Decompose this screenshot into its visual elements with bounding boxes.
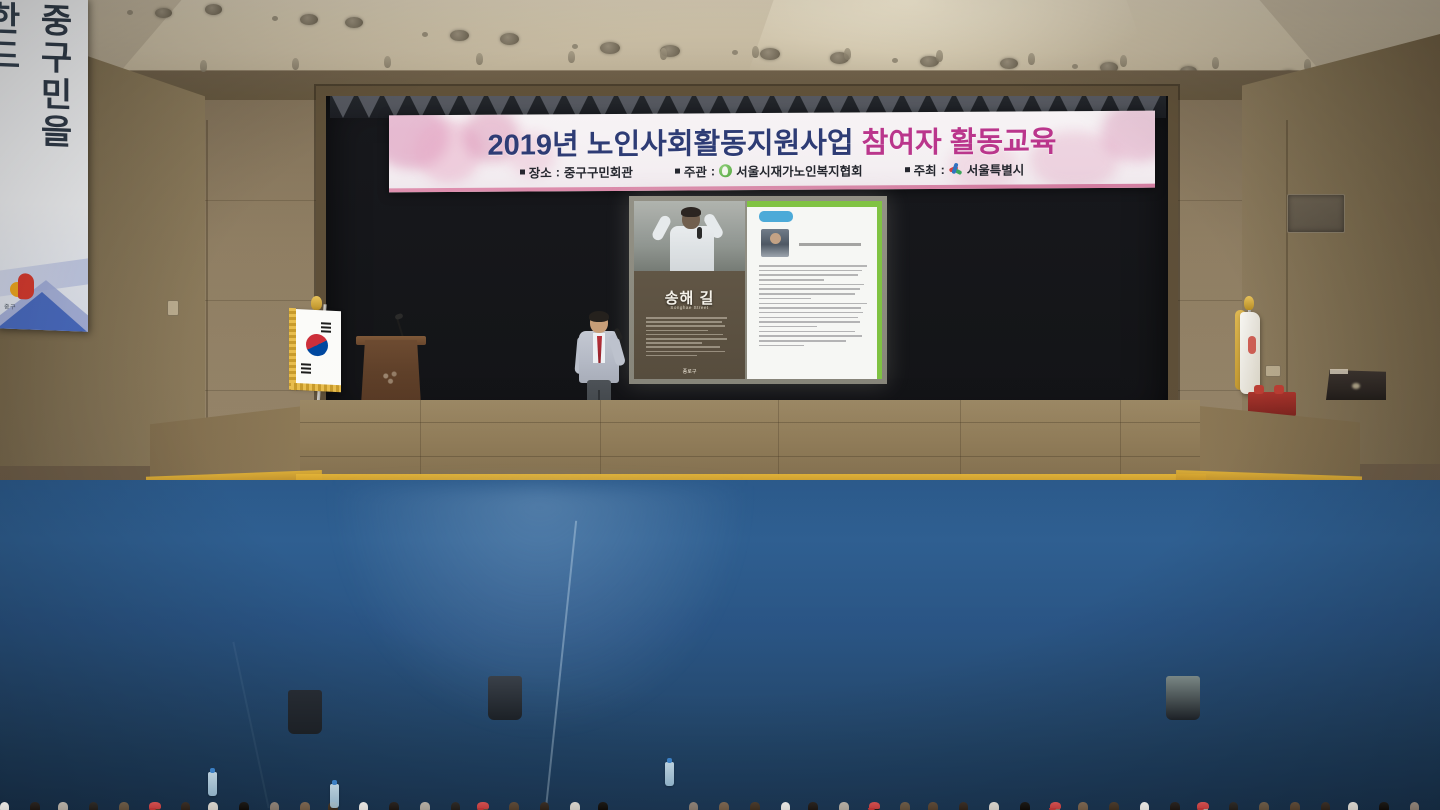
water-bottle [208, 772, 217, 796]
audience-member [714, 802, 734, 810]
audience-member [683, 802, 703, 810]
audience-head [1078, 802, 1088, 810]
audience-head [30, 802, 40, 810]
audience-head [781, 802, 791, 810]
sprinkler-head-icon [752, 46, 759, 58]
banner-sub-host-value: 서울특별시 [967, 159, 1025, 178]
banner-title-magenta: 참여자 활동교육 [862, 126, 1057, 159]
audience-head [389, 802, 399, 810]
banner-sub-sep: : [941, 162, 945, 176]
slide-section-tag [759, 211, 793, 222]
audience-member [264, 802, 284, 810]
audience-head [689, 802, 699, 810]
audience-head [1348, 802, 1358, 810]
slide-portrait-photo [761, 229, 789, 257]
audience-member [593, 802, 613, 810]
audience-member [803, 802, 823, 810]
wall-outlet [167, 300, 179, 316]
audience-member [175, 802, 195, 810]
audience-head [928, 802, 938, 810]
audience-head [540, 802, 550, 810]
slide-right-panel [747, 201, 882, 379]
audience-member [923, 802, 943, 810]
presenter-hair [589, 311, 609, 322]
stage-side-table-reflection [1352, 383, 1360, 389]
audience-head [808, 802, 818, 810]
flag-fringe [289, 308, 296, 390]
banner-sub-organizer: 주관 : 서울시재가노인복지협회 [675, 160, 863, 180]
audience-member [1343, 802, 1363, 810]
shoulder-bag [488, 676, 522, 720]
shoulder-bag [288, 690, 322, 734]
taeguk-symbol-icon [306, 333, 328, 356]
audience-member [1165, 802, 1185, 810]
sprinkler-head-icon [660, 48, 667, 60]
event-title-banner: 2019년 노인사회활동지원사업 참여자 활동교육 장소 : 중구구민회관 주관… [389, 111, 1155, 193]
audience-member [83, 802, 103, 810]
sprinkler-head-icon [384, 56, 391, 68]
wall-banner-text-column-b: 한드 [0, 0, 26, 75]
audience-member [415, 802, 435, 810]
audience-head [1410, 802, 1420, 810]
banner-title-navy: 노인사회활동지원사업 [587, 128, 854, 162]
sprinkler-head-icon [568, 51, 575, 63]
seoul-city-logo-icon [949, 162, 963, 176]
audience-head [451, 802, 461, 810]
audience-member [0, 802, 15, 810]
banner-sub-venue-label: 장소 [529, 162, 552, 181]
slide-body-text [646, 317, 734, 359]
slide-byline [799, 243, 861, 246]
audience-member [1134, 802, 1154, 810]
water-bottle [665, 762, 674, 786]
audience-head [570, 802, 580, 810]
audience-head [900, 802, 910, 810]
audience-member [1285, 802, 1305, 810]
audience-member [114, 802, 134, 810]
junggu-district-logo-icon [10, 273, 36, 302]
ceiling-sensor-dot [572, 44, 578, 49]
audience-member [234, 802, 254, 810]
audience-member [1104, 802, 1124, 810]
audience-head [959, 802, 969, 810]
audience-member [864, 802, 884, 810]
audience-member [53, 802, 73, 810]
photo-scene: 중구민을 한드 중구 2019년 노인사회활동지원사업 참여자 활동교육 [0, 0, 1440, 810]
audience-head [58, 802, 68, 810]
audience-head [1170, 802, 1180, 810]
audience-member [1254, 802, 1274, 810]
recessed-downlight [500, 33, 519, 45]
audience-head [719, 802, 729, 810]
flag-red-marking [1248, 336, 1256, 354]
audience-head [1229, 802, 1239, 810]
slide-paragraph-block [759, 265, 871, 349]
audience-member [145, 802, 165, 810]
flag-cloth [291, 309, 341, 390]
recessed-downlight [155, 8, 172, 18]
audience-member [473, 802, 493, 810]
recessed-downlight [300, 14, 318, 25]
audience-member [1435, 802, 1440, 810]
wall-hanging-banner: 중구민을 한드 중구 [0, 0, 88, 332]
sprinkler-head-icon [292, 58, 299, 70]
recessed-downlight [760, 48, 780, 60]
audience-head [1290, 802, 1300, 810]
slide-left-panel: 송해 길 Songhae Street 종로구 [634, 201, 745, 379]
ceiling-sensor-dot [892, 58, 898, 63]
seated-elderly-audience [0, 400, 1440, 810]
banner-title: 2019년 노인사회활동지원사업 참여자 활동교육 [389, 118, 1155, 165]
banner-sub-sep: : [711, 164, 715, 178]
audience-head [750, 802, 760, 810]
audience-head [1379, 802, 1389, 810]
sprinkler-head-icon [936, 50, 943, 62]
audience-member [1045, 802, 1065, 810]
audience-member [953, 802, 973, 810]
audience-head [89, 802, 99, 810]
slide-romanized: Songhae Street [634, 305, 745, 310]
green-circle-logo-icon [719, 164, 732, 177]
audience-head [239, 802, 249, 810]
audience-head [598, 802, 608, 810]
ceiling-sensor-dot [422, 32, 428, 37]
banner-sub-host: 주최 : 서울특별시 [905, 159, 1025, 179]
audience-member [1315, 802, 1335, 810]
square-bullet-icon [520, 170, 525, 175]
wall-corner-seam [206, 120, 208, 440]
audience-member [1374, 802, 1394, 810]
audience-member [1223, 802, 1243, 810]
audience-head [989, 802, 999, 810]
ceiling-sensor-dot [272, 16, 278, 21]
projection-screen: 송해 길 Songhae Street 종로구 [629, 196, 887, 384]
audience-member [1073, 802, 1093, 810]
audience-member [445, 802, 465, 810]
banner-title-year: 2019년 [488, 129, 579, 162]
audience-member [775, 802, 795, 810]
recessed-downlight [450, 30, 469, 41]
audience-head [1140, 802, 1150, 810]
audience-head [359, 802, 369, 810]
audience-head [1109, 802, 1119, 810]
audience-member [565, 802, 585, 810]
slide-speaker-photo [634, 201, 745, 275]
audience-head [1259, 802, 1269, 810]
audience-head [1321, 802, 1331, 810]
audience-member [25, 802, 45, 810]
sprinkler-head-icon [1028, 53, 1035, 65]
audience-head [1020, 802, 1030, 810]
recessed-downlight [205, 4, 222, 15]
sprinkler-head-icon [1212, 57, 1219, 69]
audience-member [834, 802, 854, 810]
sprinkler-head-icon [844, 48, 851, 60]
audience-head [119, 802, 129, 810]
recessed-downlight [600, 42, 620, 54]
audience-head [300, 802, 310, 810]
banner-sub-organizer-value: 서울시재가노인복지협회 [736, 160, 863, 180]
banner-sub-organizer-label: 주관 [684, 161, 707, 180]
audience-member [745, 802, 765, 810]
flag-fringe-bottom [291, 383, 341, 393]
audience-head [420, 802, 430, 810]
audience-member [384, 802, 404, 810]
banner-sub-sep: : [556, 165, 560, 179]
wall-banner-logo-label: 중구 [4, 302, 16, 311]
audience-member [504, 802, 524, 810]
ceiling-sensor-dot [732, 50, 738, 55]
audience-head [270, 802, 280, 810]
ceiling-sensor-dot [1072, 64, 1078, 69]
shoulder-bag [1166, 676, 1200, 720]
audience-member [1193, 802, 1213, 810]
banner-sub-venue: 장소 : 중구구민회관 [520, 162, 633, 182]
ceiling-sensor-dot [127, 10, 133, 15]
audience-head [839, 802, 849, 810]
audience-head [0, 802, 9, 810]
audience-member [1404, 802, 1424, 810]
wall-banner-text-column-a: 중구민을 [29, 2, 78, 152]
slide-footer-logo: 종로구 [634, 368, 745, 375]
audience-member [895, 802, 915, 810]
sprinkler-head-icon [200, 60, 207, 72]
sprinkler-head-icon [476, 53, 483, 65]
water-bottle [330, 784, 339, 808]
audience-head [208, 802, 218, 810]
audience-member [534, 802, 554, 810]
flag-finial-icon [311, 296, 322, 310]
flag-finial-icon [1244, 296, 1254, 310]
audience-member [295, 802, 315, 810]
sprinkler-head-icon [1120, 55, 1127, 67]
audience-head [509, 802, 519, 810]
banner-sub-host-label: 주최 [914, 160, 937, 179]
audience-member [984, 802, 1004, 810]
square-bullet-icon [675, 169, 680, 174]
banner-sub-venue-value: 중구구민회관 [564, 162, 633, 181]
stage-side-table-highlight [1330, 369, 1348, 374]
audience-head [181, 802, 191, 810]
podium-emblem [378, 368, 404, 388]
audience-member [1015, 802, 1035, 810]
square-bullet-icon [905, 167, 910, 172]
audience-member [353, 802, 373, 810]
audience-member [203, 802, 223, 810]
